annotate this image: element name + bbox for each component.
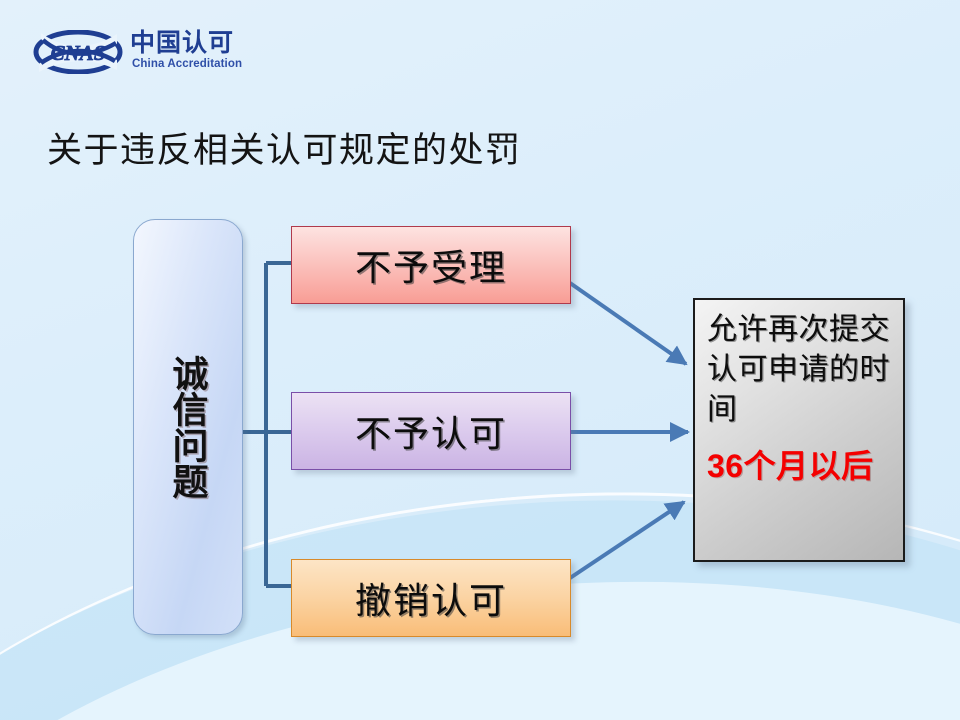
logo-chinese-name: 中国认可 <box>130 29 234 57</box>
option-box-revoke-accreditation[interactable]: 撤销认可 <box>291 559 571 637</box>
root-node-label: 诚信问题 <box>161 302 216 552</box>
result-description: 允许再次提交认可申请的时间 <box>707 310 899 430</box>
result-box-reapply-time[interactable]: 允许再次提交认可申请的时间 36个月以后 <box>693 298 905 562</box>
option-label: 撤销认可 <box>355 572 507 624</box>
cnas-logo-mark-icon: CNAS <box>33 30 123 74</box>
option-label: 不予认可 <box>355 405 507 457</box>
arrow-option-1-to-result <box>570 283 686 364</box>
logo-english-name: China Accreditation <box>132 58 242 70</box>
result-highlight-value: 36个月以后 <box>707 446 899 486</box>
svg-text:CNAS: CNAS <box>51 41 106 65</box>
option-box-no-acceptance[interactable]: 不予受理 <box>291 226 571 304</box>
option-box-no-accreditation[interactable]: 不予认可 <box>291 392 571 470</box>
cnas-logo: CNAS 中国认可 China Accreditation <box>33 28 233 78</box>
page-title: 关于违反相关认可规定的处罚 <box>47 122 522 173</box>
option-label: 不予受理 <box>355 239 507 291</box>
root-node-integrity-issue[interactable]: 诚信问题 <box>133 219 243 635</box>
slide-canvas: CNAS 中国认可 China Accreditation 关于违反相关认可规定… <box>0 0 960 720</box>
